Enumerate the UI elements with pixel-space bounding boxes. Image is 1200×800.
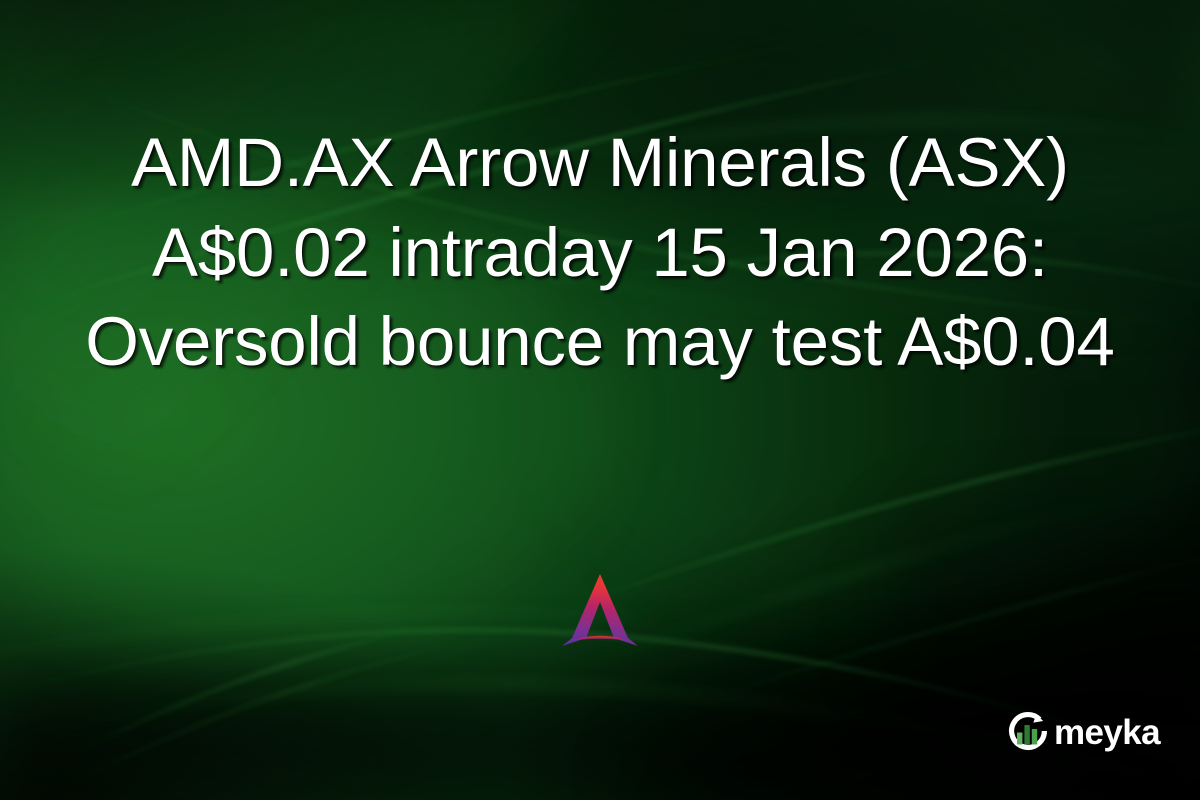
headline-block: AMD.AX Arrow Minerals (ASX) A$0.02 intra… [0, 118, 1200, 387]
social-share-card: AMD.AX Arrow Minerals (ASX) A$0.02 intra… [0, 0, 1200, 800]
arrow-minerals-chevron-icon [552, 568, 648, 652]
circular-arrow-bar-chart-icon [1004, 708, 1052, 756]
meyka-logo[interactable]: meyka [1004, 708, 1160, 756]
page-title: AMD.AX Arrow Minerals (ASX) A$0.02 intra… [65, 118, 1135, 387]
brand-wordmark: meyka [1054, 715, 1160, 750]
